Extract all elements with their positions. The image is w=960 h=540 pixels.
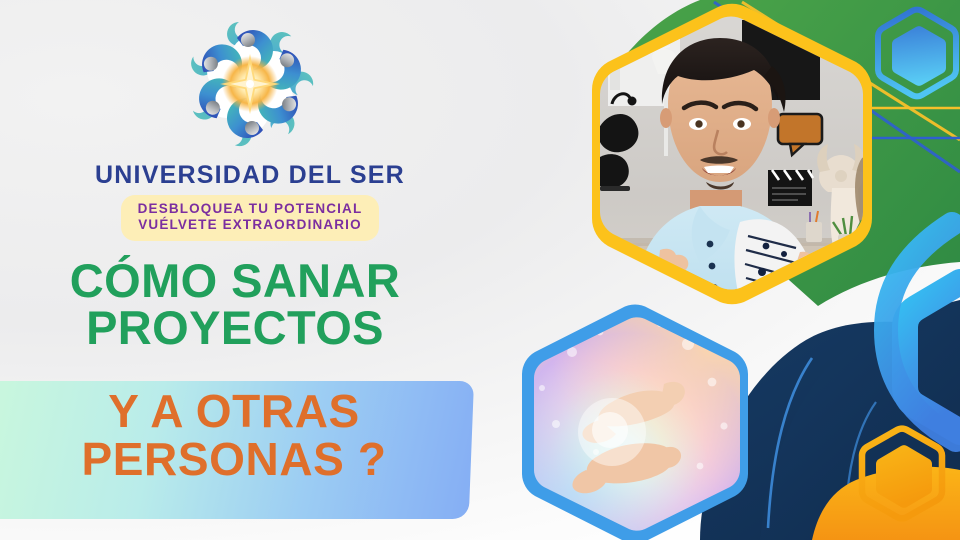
brand-name: UNIVERSIDAD DEL SER — [0, 161, 500, 190]
logo-block: UNIVERSIDAD DEL SER DESBLOQUEA TU POTENC… — [0, 14, 500, 241]
navy-blob-shape — [700, 300, 960, 540]
tagline-line-1: DESBLOQUEA TU POTENCIAL — [131, 201, 369, 217]
orange-bottom-shape — [812, 467, 960, 540]
subheadline-line-2: PERSONAS ? — [0, 435, 468, 483]
green-diagonal-shape — [612, 0, 960, 306]
tagline-pill: DESBLOQUEA TU POTENCIAL VUÉLVETE EXTRAOR… — [121, 195, 379, 241]
orange-hexagon-badge — [862, 429, 942, 519]
blue-hexagon-ribbon — [886, 224, 960, 440]
headline-line-1: CÓMO SANAR — [0, 258, 470, 305]
presenter-hexagon-photo — [590, 4, 883, 326]
headline: CÓMO SANAR PROYECTOS — [0, 258, 470, 351]
healing-hands-hexagon-photo — [520, 300, 780, 540]
tagline-line-2: VUÉLVETE EXTRAORDINARIO — [131, 217, 369, 233]
headline-line-2: PROYECTOS — [0, 305, 470, 352]
left-content: UNIVERSIDAD DEL SER DESBLOQUEA TU POTENC… — [0, 0, 500, 540]
mandala-people-starburst-logo — [170, 14, 330, 154]
subheadline: Y A OTRAS PERSONAS ? — [0, 387, 468, 484]
blue-hexagon-badge — [878, 10, 956, 97]
subheadline-line-1: Y A OTRAS — [0, 387, 468, 435]
thumbnail-canvas: UNIVERSIDAD DEL SER DESBLOQUEA TU POTENC… — [0, 0, 960, 540]
